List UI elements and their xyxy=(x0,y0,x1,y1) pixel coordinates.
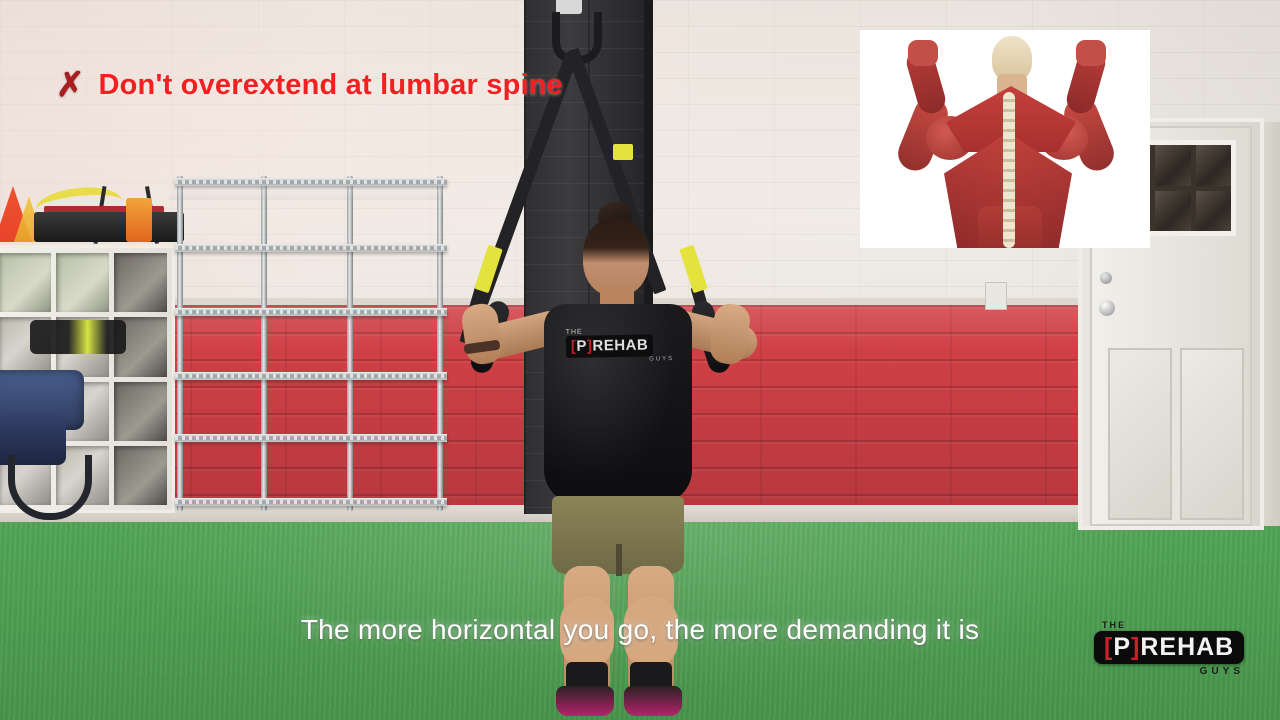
shorts-split xyxy=(616,544,622,576)
window-pane xyxy=(1196,145,1231,186)
wire-shelf xyxy=(175,434,447,442)
anatomy-inset-image xyxy=(860,30,1150,248)
shelf-cube xyxy=(114,446,167,505)
shelf-cube xyxy=(56,253,109,312)
shelf-cube xyxy=(114,253,167,312)
door-deadbolt[interactable] xyxy=(1100,272,1112,284)
logo-guys: GUYS xyxy=(1094,666,1244,677)
logo-bracket-close: ] xyxy=(1131,633,1140,661)
shelf-depth xyxy=(168,184,447,200)
shirt-logo-box: [P]REHAB xyxy=(566,334,654,358)
wire-shelf xyxy=(175,372,447,380)
logo-box: [P]REHAB xyxy=(1094,631,1244,664)
shoe-right xyxy=(624,686,682,716)
wire-shelf xyxy=(175,178,447,186)
shelf-post xyxy=(347,176,353,511)
warning-text: Don't overextend at lumbar spine xyxy=(99,69,564,102)
wire-shelving-unit xyxy=(175,176,447,511)
window-pane xyxy=(1155,145,1190,186)
x-mark-icon: ✗ xyxy=(56,68,85,102)
anatomy-fist-right xyxy=(1076,40,1106,66)
shelf-cube xyxy=(114,382,167,441)
video-frame: THE [P]REHAB GUYS xyxy=(0,0,1280,720)
prehab-guys-watermark-logo: THE [P]REHAB GUYS xyxy=(1094,620,1264,694)
anatomy-fist-left xyxy=(908,40,938,66)
shelf-post xyxy=(177,176,183,511)
wall-outlet xyxy=(985,282,1007,310)
shirt-logo: THE [P]REHAB GUYS xyxy=(566,327,675,375)
shelf-cube xyxy=(0,253,51,312)
orange-container xyxy=(126,198,152,242)
subtitle-caption: The more horizontal you go, the more dem… xyxy=(0,614,1280,646)
wire-shelf xyxy=(175,308,447,316)
trx-adjuster-center xyxy=(613,144,633,160)
posterior-back-musculature-illustration xyxy=(860,30,1150,248)
anatomy-spine xyxy=(1003,92,1015,248)
wire-shelf xyxy=(175,498,447,506)
door-panel-left xyxy=(1108,348,1172,520)
black-equipment-box xyxy=(34,212,184,242)
logo-p: P xyxy=(1113,633,1131,661)
wire-shelf xyxy=(175,244,447,252)
logo-the: THE xyxy=(1102,620,1264,630)
head xyxy=(583,218,649,296)
warning-overlay: ✗ Don't overextend at lumbar spine xyxy=(56,68,563,102)
door-knob[interactable] xyxy=(1099,300,1115,316)
door-panel-right xyxy=(1180,348,1244,520)
shoe-left xyxy=(556,686,614,716)
logo-rest: REHAB xyxy=(1140,633,1234,661)
window-pane xyxy=(1196,191,1231,232)
shirt-logo-p: P xyxy=(576,338,587,355)
window-pane xyxy=(1155,191,1190,232)
shirt-logo-rest: REHAB xyxy=(592,337,648,355)
shelf-post xyxy=(261,176,267,511)
trx-strap-on-shelf xyxy=(30,320,126,354)
logo-bracket-open: [ xyxy=(1104,633,1113,661)
forearm-left xyxy=(460,302,504,366)
